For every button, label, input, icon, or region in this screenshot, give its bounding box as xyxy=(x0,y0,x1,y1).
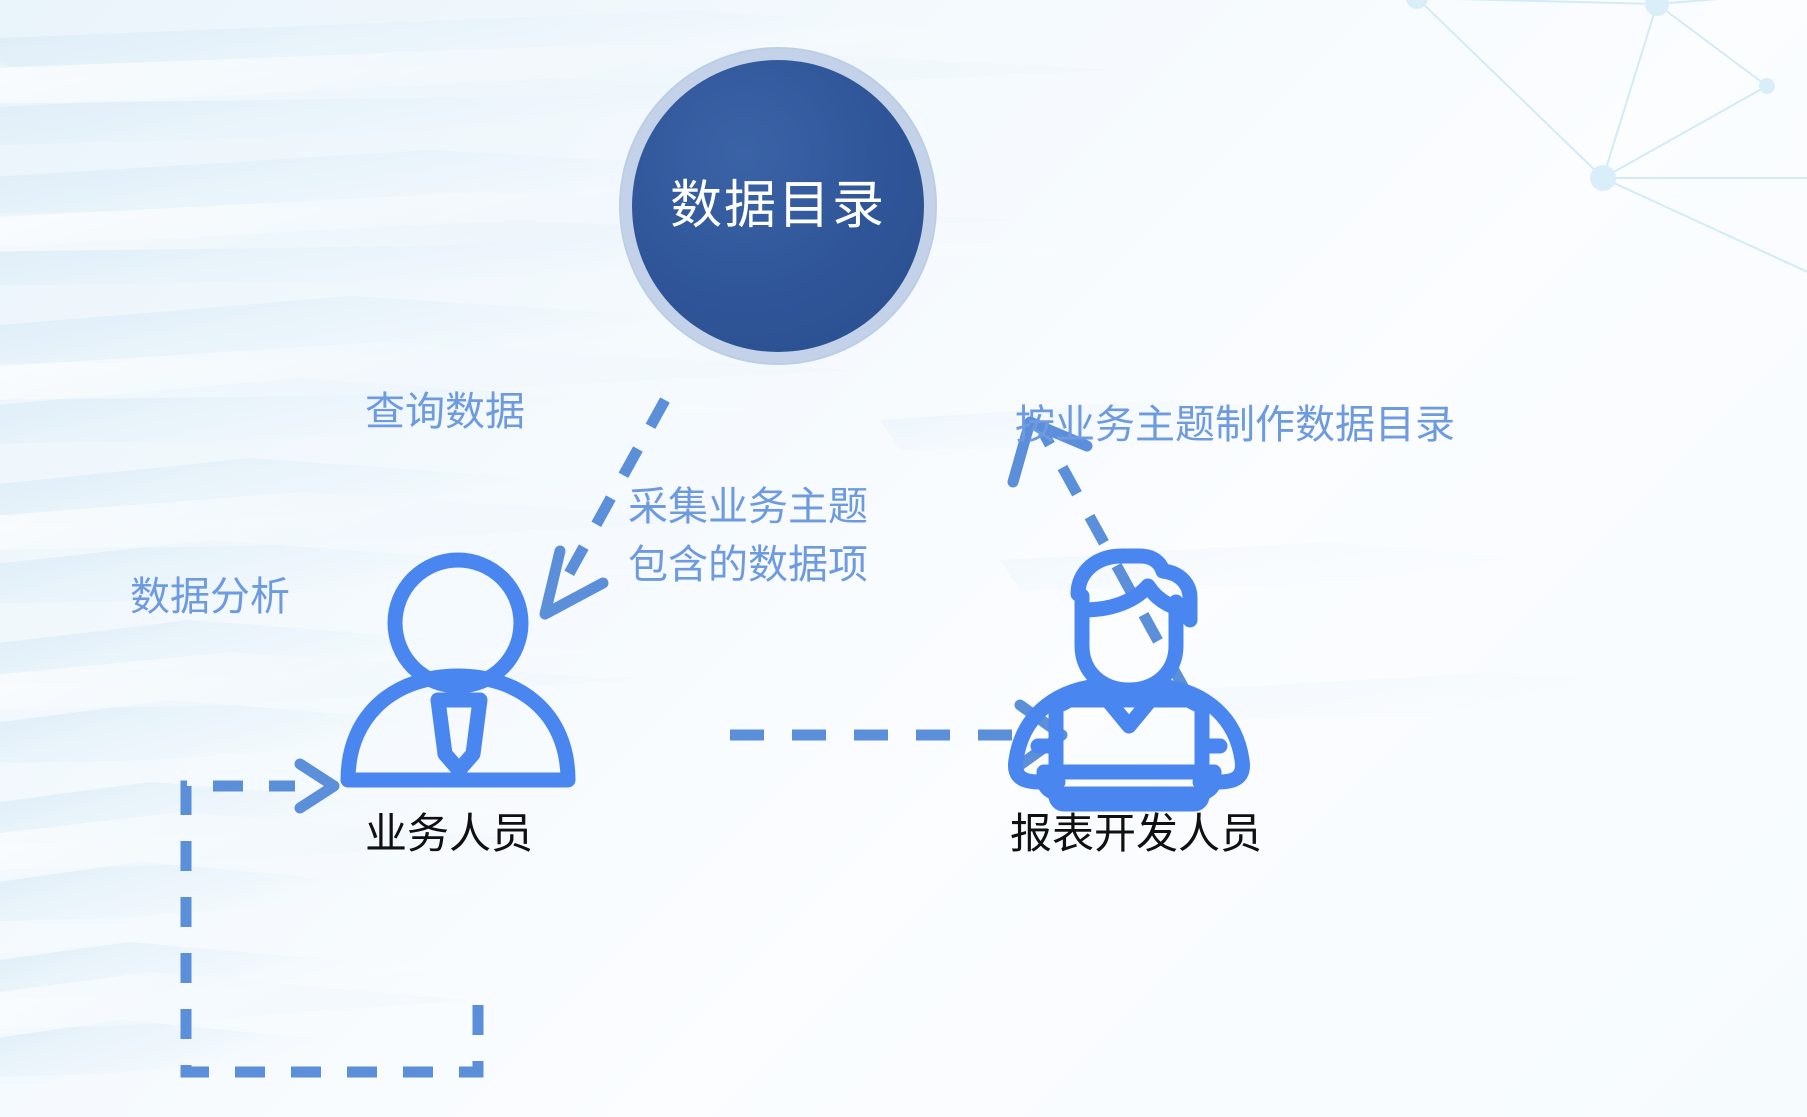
center-node-data-catalog[interactable]: 数据目录 xyxy=(632,60,924,352)
center-node-label: 数据目录 xyxy=(670,180,886,232)
edge-label-data-analysis: 数据分析 xyxy=(130,570,290,624)
edge-label-collect-items-line1: 采集业务主题 xyxy=(628,478,868,536)
caption-business-person: 业务人员 xyxy=(365,800,533,861)
developer-laptop-icon[interactable] xyxy=(1000,540,1258,790)
edge-label-query-data: 查询数据 xyxy=(365,385,525,439)
business-person-icon[interactable] xyxy=(340,552,582,790)
caption-report-developer: 报表开发人员 xyxy=(1010,800,1262,861)
diagram-canvas: 数据目录 查询数据 按业务主题制作数据目录 采集业务主题 包含的数据项 数据分析 xyxy=(0,0,1807,1117)
edge-label-collect-items: 采集业务主题 包含的数据项 xyxy=(628,478,868,594)
edge-label-build-catalog: 按业务主题制作数据目录 xyxy=(1015,398,1455,452)
edge-label-collect-items-line2: 包含的数据项 xyxy=(628,536,868,594)
network-nodes-decoration xyxy=(1407,0,1807,290)
